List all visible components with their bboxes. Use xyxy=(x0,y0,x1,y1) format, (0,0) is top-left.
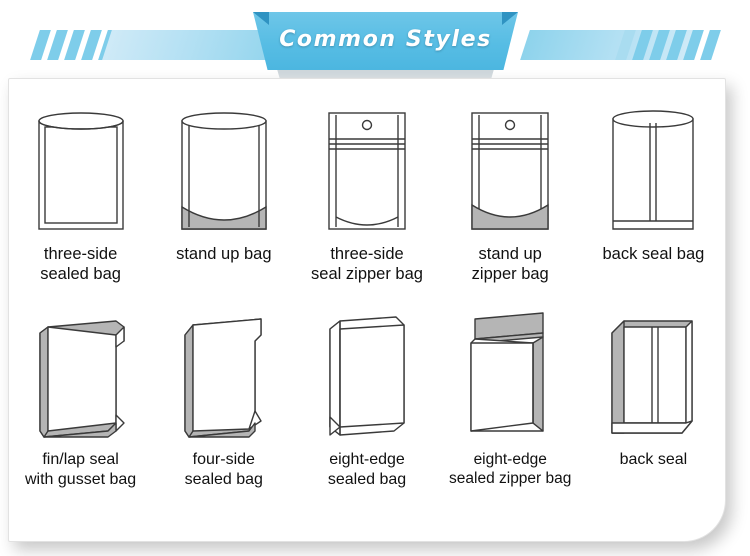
styles-row-2: fin/lap seal with gusset bag four-side s… xyxy=(9,311,725,523)
styles-card: three-side sealed bag stand up bag xyxy=(8,78,726,542)
flat-pouch-bag-icon xyxy=(9,97,152,237)
banner-ribbon: Common Styles xyxy=(253,12,518,78)
stand-up-zipper-pouch-icon xyxy=(439,97,582,237)
fin-lap-seal-gusset-bag-icon xyxy=(9,311,152,443)
style-item[interactable]: back seal xyxy=(582,311,725,523)
three-side-zipper-pouch-icon xyxy=(295,97,438,237)
style-item[interactable]: three-side sealed bag xyxy=(9,97,152,315)
back-seal-pouch-icon xyxy=(582,97,725,237)
style-item[interactable]: eight-edge sealed bag xyxy=(295,311,438,523)
style-label: fin/lap seal with gusset bag xyxy=(25,450,136,490)
style-label: stand up bag xyxy=(176,244,271,264)
stripe-icon xyxy=(700,30,721,60)
style-item[interactable]: stand up zipper bag xyxy=(439,97,582,315)
styles-row-1: three-side sealed bag stand up bag xyxy=(9,97,725,315)
style-label: stand up zipper bag xyxy=(472,244,549,285)
style-item[interactable]: back seal bag xyxy=(582,97,725,315)
eight-edge-sealed-zipper-bag-icon xyxy=(439,311,582,443)
four-side-sealed-bag-icon xyxy=(152,311,295,443)
style-label: eight-edge sealed bag xyxy=(328,450,406,490)
ribbon-body: Common Styles xyxy=(253,12,518,70)
style-item[interactable]: four-side sealed bag xyxy=(152,311,295,523)
style-item[interactable]: eight-edge sealed zipper bag xyxy=(439,311,582,523)
style-label: back seal bag xyxy=(603,244,705,264)
style-label: three-side seal zipper bag xyxy=(311,244,423,285)
header-banner: Common Styles xyxy=(0,0,750,84)
style-label: eight-edge sealed zipper bag xyxy=(449,450,571,488)
stand-up-pouch-icon xyxy=(152,97,295,237)
eight-edge-sealed-bag-icon xyxy=(295,311,438,443)
style-item[interactable]: three-side seal zipper bag xyxy=(295,97,438,315)
style-item[interactable]: stand up bag xyxy=(152,97,295,315)
page-title: Common Styles xyxy=(279,27,492,55)
style-label: back seal xyxy=(620,450,688,470)
style-label: three-side sealed bag xyxy=(40,244,121,285)
style-item[interactable]: fin/lap seal with gusset bag xyxy=(9,311,152,523)
back-seal-box-bag-icon xyxy=(582,311,725,443)
style-label: four-side sealed bag xyxy=(185,450,263,490)
